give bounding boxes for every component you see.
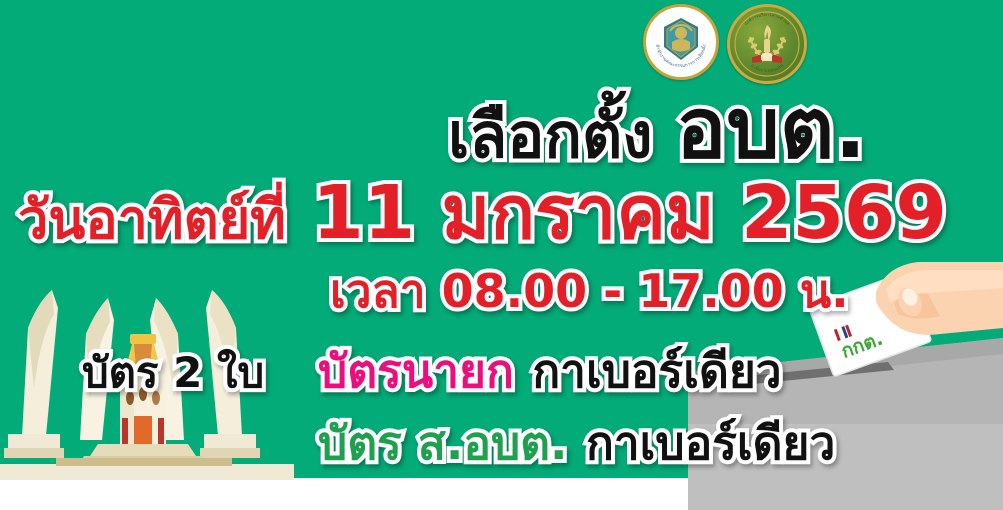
date-day-number: 11 — [312, 176, 415, 250]
council-ballot-name: บัตร ส.อบต. — [318, 420, 568, 466]
council-ballot-instruction: กาเบอร์เดียว — [586, 420, 835, 466]
ballot-count-text: บัตร 2 ใบ — [82, 352, 264, 394]
date-day-label: วันอาทิตย์ที่ — [18, 193, 286, 247]
svg-text:อ.เมือง จ.ขอนแก่น: อ.เมือง จ.ขอนแก่น — [749, 63, 784, 74]
svg-text:สำนักงานคณะกรรมการการเลือกตั้ง: สำนักงานคณะกรรมการการเลือกตั้ง — [654, 44, 708, 69]
mayor-ballot-instruction: กาเบอร์เดียว — [532, 348, 781, 394]
election-banner: กกต. สำนักงานคณะกรรมการการเลือกตั้ง — [0, 0, 1003, 510]
local-administrative-organization-seal: องค์การบริหารส่วนตำบล อ.เมือง จ.ขอนแก่น — [727, 4, 807, 84]
emblem-group: สำนักงานคณะกรรมการการเลือกตั้ง — [643, 4, 823, 82]
svg-text:องค์การบริหารส่วนตำบล: องค์การบริหารส่วนตำบล — [744, 12, 790, 27]
headline-prefix: เลือกตั้ง — [448, 105, 653, 167]
date-month: มกราคม — [441, 176, 714, 250]
mayor-ballot-name: บัตรนายก — [318, 348, 514, 394]
election-commission-of-thailand-seal: สำนักงานคณะกรรมการการเลือกตั้ง — [643, 4, 719, 80]
time-text: เวลา 08.00 - 17.00 น. — [330, 268, 849, 314]
headline-emphasis: อบต. — [676, 86, 866, 170]
date-year: 2569 — [741, 176, 947, 250]
